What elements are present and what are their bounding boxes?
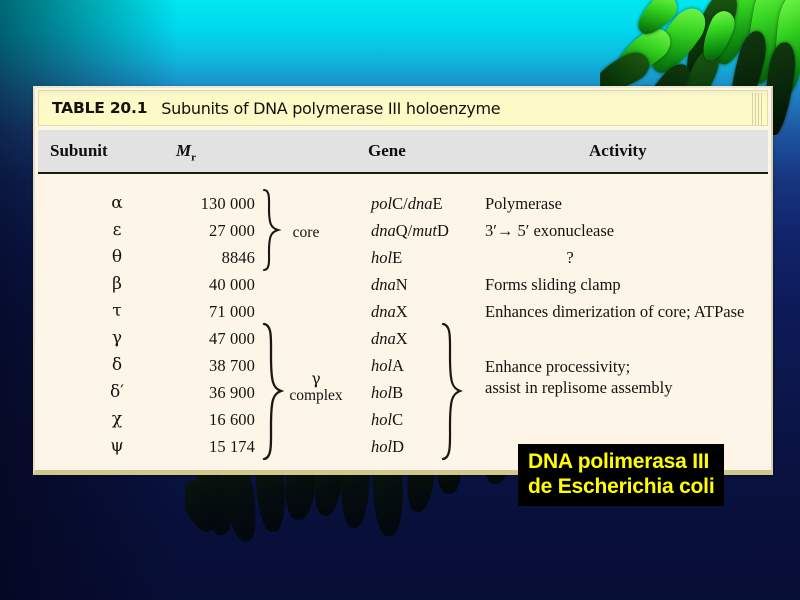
cell-activity: ?	[485, 244, 655, 271]
table-row: ε 27 000 dnaQ/mutD 3′→ 5′ exonuclease	[35, 217, 771, 244]
table-row: θ 8846 holE ?	[35, 244, 771, 271]
cell-gene: holD	[371, 433, 404, 460]
cell-gene: dnaQ/mutD	[371, 217, 449, 244]
gamma-complex-activity: Enhance processivity; assist in replisom…	[485, 356, 672, 398]
gamma-activity-line1: Enhance processivity;	[485, 356, 672, 377]
table-header-row: Subunit Mr Gene Activity	[38, 130, 768, 174]
table-row: α 130 000 polC/dnaE Polymerase	[35, 190, 771, 217]
cell-activity: Polymerase	[485, 190, 562, 217]
cell-subunit: ψ	[97, 433, 137, 460]
caption-line-2: de Escherichia coli	[528, 474, 714, 499]
core-group-label: core	[281, 225, 331, 241]
cell-gene: holE	[371, 244, 402, 271]
cell-gene: dnaX	[371, 325, 408, 352]
table-row: τ 71 000 dnaX Enhances dimerization of c…	[35, 298, 771, 325]
cell-gene: holB	[371, 379, 403, 406]
table-number-label: TABLE 20.1	[52, 99, 147, 117]
gamma-complex-label: γ complex	[283, 371, 349, 405]
cell-subunit: χ	[97, 406, 137, 433]
caption-box: DNA polimerasa III de Escherichia coli	[518, 444, 724, 506]
cell-subunit: δ	[97, 352, 137, 379]
gamma-activity-line2: assist in replisome assembly	[485, 377, 672, 398]
cell-mr: 40 000	[145, 271, 255, 298]
cell-subunit: δ′	[97, 379, 137, 406]
cell-mr: 16 600	[145, 406, 255, 433]
table-row: β 40 000 dnaN Forms sliding clamp	[35, 271, 771, 298]
cell-gene: dnaN	[371, 271, 408, 298]
table-body: α 130 000 polC/dnaE Polymerase ε 27 000 …	[35, 174, 771, 474]
cell-mr: 27 000	[145, 217, 255, 244]
cell-subunit: θ	[97, 244, 137, 271]
cell-activity: Forms sliding clamp	[485, 271, 621, 298]
cell-mr: 38 700	[145, 352, 255, 379]
slide-background: TABLE 20.1 Subunits of DNA polymerase II…	[0, 0, 800, 600]
cell-mr: 130 000	[145, 190, 255, 217]
cell-gene: holA	[371, 352, 404, 379]
cell-mr: 15 174	[145, 433, 255, 460]
cell-subunit: α	[97, 190, 137, 217]
caption-line-1: DNA polimerasa III	[528, 449, 714, 474]
cell-activity: Enhances dimerization of core; ATPase	[485, 298, 744, 325]
column-header-mr: Mr	[176, 141, 196, 163]
column-header-gene: Gene	[368, 141, 406, 161]
cell-gene: dnaX	[371, 298, 408, 325]
gamma-complex-gene-brace	[439, 322, 463, 461]
cell-gene: holC	[371, 406, 403, 433]
cell-mr: 8846	[145, 244, 255, 271]
table-row: γ 47 000 dnaX	[35, 325, 771, 352]
cell-gene: polC/dnaE	[371, 190, 443, 217]
cell-mr: 47 000	[145, 325, 255, 352]
cell-subunit: γ	[97, 325, 137, 352]
cell-subunit: β	[97, 271, 137, 298]
cell-subunit: τ	[97, 298, 137, 325]
column-header-activity: Activity	[589, 141, 647, 161]
table-panel: TABLE 20.1 Subunits of DNA polymerase II…	[33, 86, 773, 475]
gamma-complex-brace	[260, 322, 284, 461]
table-title-bar: TABLE 20.1 Subunits of DNA polymerase II…	[38, 90, 768, 126]
table-title: Subunits of DNA polymerase III holoenzym…	[161, 99, 500, 118]
cell-mr: 36 900	[145, 379, 255, 406]
cell-mr: 71 000	[145, 298, 255, 325]
title-bar-grip-icon	[752, 93, 764, 125]
column-header-subunit: Subunit	[50, 141, 108, 161]
table-row: χ 16 600 holC	[35, 406, 771, 433]
gamma-complex-word: complex	[289, 387, 342, 404]
gamma-symbol: γ	[311, 370, 320, 388]
cell-activity: 3′→ 5′ exonuclease	[485, 217, 614, 244]
cell-subunit: ε	[97, 217, 137, 244]
core-group-brace	[260, 188, 282, 272]
